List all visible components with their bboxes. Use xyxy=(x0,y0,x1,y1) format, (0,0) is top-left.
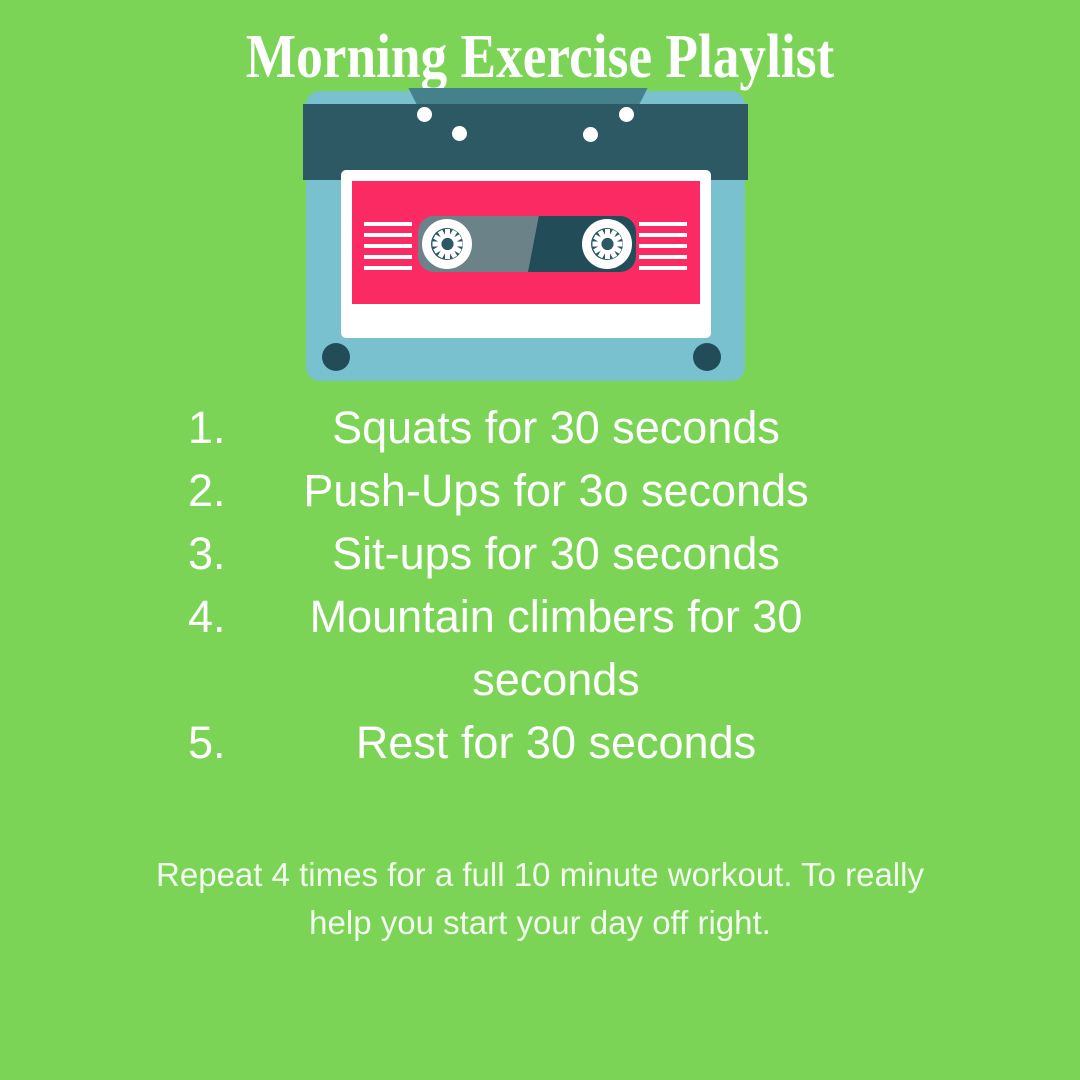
page-title: Morning Exercise Playlist xyxy=(76,22,1005,92)
stripe-line xyxy=(364,255,412,259)
stripe-line xyxy=(639,255,687,259)
stripe-line xyxy=(364,244,412,248)
list-item: 2. Push-Ups for 3o seconds xyxy=(0,459,1080,522)
stripe-line xyxy=(639,233,687,237)
stripe-line xyxy=(639,244,687,248)
stripe-line xyxy=(639,222,687,226)
cassette-tape-illustration xyxy=(303,88,748,381)
stripe-line xyxy=(364,222,412,226)
list-item: 1. Squats for 30 seconds xyxy=(0,396,1080,459)
cassette-roller-left xyxy=(322,343,350,371)
list-item-label: Sit-ups for 30 seconds xyxy=(220,522,1080,585)
list-item-number: 4. xyxy=(0,585,220,648)
stripe-line xyxy=(364,266,412,270)
list-item-number: 3. xyxy=(0,522,220,585)
cassette-screw-dot xyxy=(452,126,467,141)
cassette-reel-left xyxy=(422,219,472,269)
list-item: 4. Mountain climbers for 30 seconds xyxy=(0,585,1080,711)
list-item-label: Squats for 30 seconds xyxy=(220,396,1080,459)
list-item: 3. Sit-ups for 30 seconds xyxy=(0,522,1080,585)
cassette-roller-right xyxy=(693,343,721,371)
list-item-number: 2. xyxy=(0,459,220,522)
footer-note: Repeat 4 times for a full 10 minute work… xyxy=(150,851,930,947)
list-item: 5. Rest for 30 seconds xyxy=(0,711,1080,774)
list-item-number: 5. xyxy=(0,711,220,774)
cassette-stripes-left xyxy=(364,222,412,268)
list-item-label: Mountain climbers for 30 seconds xyxy=(220,585,1080,711)
cassette-top-bar xyxy=(303,104,748,180)
cassette-screw-dot xyxy=(417,107,432,122)
stripe-line xyxy=(639,266,687,270)
list-item-number: 1. xyxy=(0,396,220,459)
exercise-list: 1. Squats for 30 seconds 2. Push-Ups for… xyxy=(0,396,1080,774)
cassette-screw-dot xyxy=(583,127,598,142)
cassette-screw-dot xyxy=(619,107,634,122)
stripe-line xyxy=(364,233,412,237)
list-item-label: Rest for 30 seconds xyxy=(220,711,1080,774)
list-item-label: Push-Ups for 3o seconds xyxy=(220,459,1080,522)
reel-hub xyxy=(591,228,623,260)
cassette-reel-right xyxy=(582,219,632,269)
reel-hub xyxy=(431,228,463,260)
cassette-stripes-right xyxy=(639,222,687,268)
poster-canvas: Morning Exercise Playlist xyxy=(0,0,1080,1080)
